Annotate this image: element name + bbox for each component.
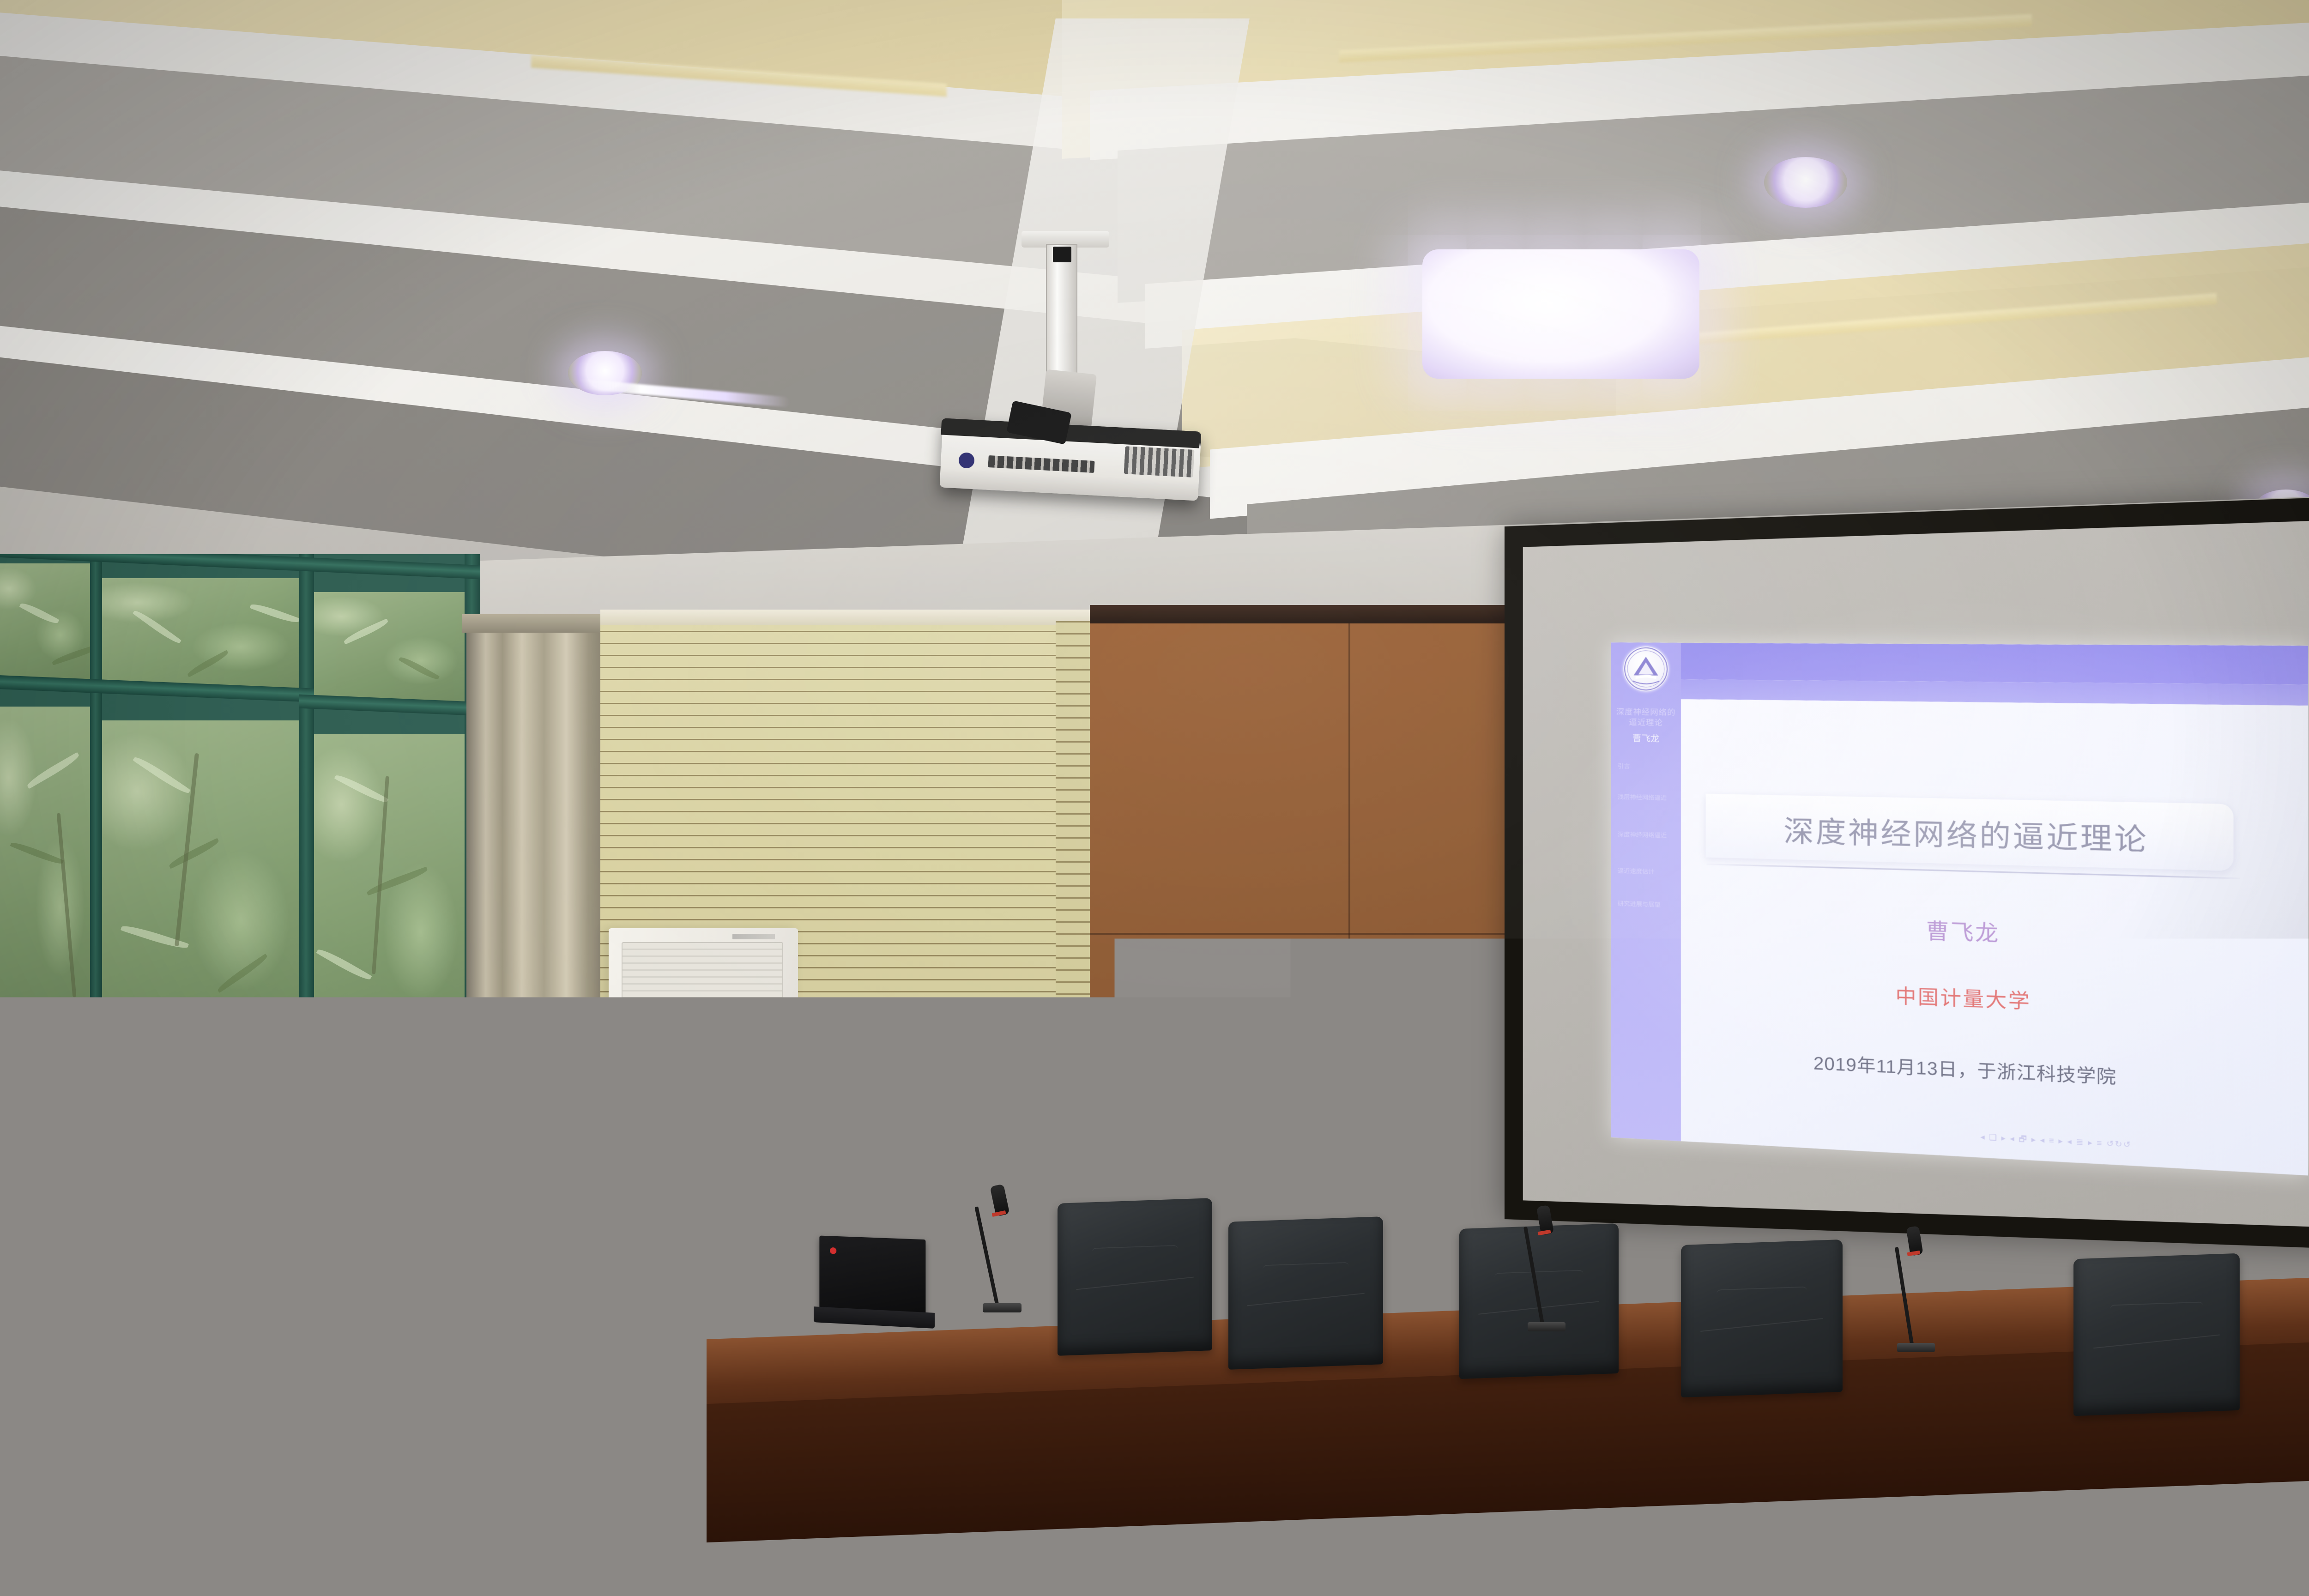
projection-screen-surface: 深度神经网络的逼近理论 曹飞龙 引言 浅层神经网络逼近 深度神经网络逼近 逼近速…: [1523, 516, 2309, 1232]
cjlu-emblem-svg: [1623, 646, 1668, 691]
ceiling-mounted-projector: [914, 231, 1238, 526]
slide-sidebar-toc-1[interactable]: 浅层神经网络逼近: [1618, 792, 1677, 803]
slide-sidebar-toc-0[interactable]: 引言: [1618, 759, 1677, 774]
mug-printed-text: 计量 大学: [296, 1344, 303, 1390]
bottle-tea-leaves: [22, 1458, 45, 1493]
speaker-glasses-right-lens: [561, 1092, 590, 1112]
bottle-cap: [18, 1378, 49, 1396]
window-wall: [0, 554, 480, 1339]
beamer-slide: 深度神经网络的逼近理论 曹飞龙 引言 浅层神经网络逼近 深度神经网络逼近 逼近速…: [1611, 642, 2308, 1175]
lecture-hall-photo: 深度神经网络的逼近理论 曹飞龙 引言 浅层神经网络逼近 深度神经网络逼近 逼近速…: [0, 0, 2309, 1596]
speaker-hair: [517, 1044, 600, 1094]
ceiling-downlight-1: [1764, 157, 1847, 208]
front-bench-face-right: [1644, 1417, 2309, 1596]
slide-sidebar-toc-2[interactable]: 深度神经网络逼近: [1618, 829, 1677, 840]
glass-tea-bottle[interactable]: [13, 1374, 55, 1508]
white-ceramic-mug[interactable]: 计量 大学: [272, 1330, 332, 1413]
window-pane-3: [314, 592, 466, 703]
slide-sidebar-toc-3[interactable]: 逼近速度估计: [1618, 866, 1677, 877]
window-pane-1: [0, 563, 90, 679]
slide-header-bar: [1611, 642, 2308, 684]
ceiling-panel-light-1: [1422, 249, 1699, 379]
slide-sidebar-title: 深度神经网络的逼近理论: [1615, 707, 1677, 728]
projector-mount-pole: [1046, 244, 1077, 382]
projection-screen-frame: 深度神经网络的逼近理论 曹飞龙 引言 浅层神经网络逼近 深度神经网络逼近 逼近速…: [1505, 492, 2309, 1253]
speaker-glasses-bridge: [553, 1099, 562, 1101]
speaker-left-hand: [497, 1151, 544, 1200]
slide-sidebar-toc-4[interactable]: 研究进展与展望: [1618, 899, 1677, 910]
projector-pole-collar: [1053, 247, 1071, 262]
ac-brand-logo: [732, 934, 775, 939]
speaker-mouth: [549, 1123, 568, 1130]
window-pane-2: [102, 578, 300, 689]
speaker-glasses-left-lens: [526, 1091, 554, 1111]
window-pane-6: [314, 734, 466, 1053]
projector-vent: [1124, 446, 1195, 478]
mug-handle: [267, 1348, 289, 1382]
window-pane-5: [102, 720, 300, 1044]
curtain-rail: [462, 614, 610, 633]
beige-wall-cornice: [600, 610, 1090, 625]
cjlu-logo-icon: [1623, 646, 1668, 691]
audience-member-8: [1330, 1432, 1510, 1596]
slide-sidebar-author: 曹飞龙: [1615, 731, 1677, 744]
